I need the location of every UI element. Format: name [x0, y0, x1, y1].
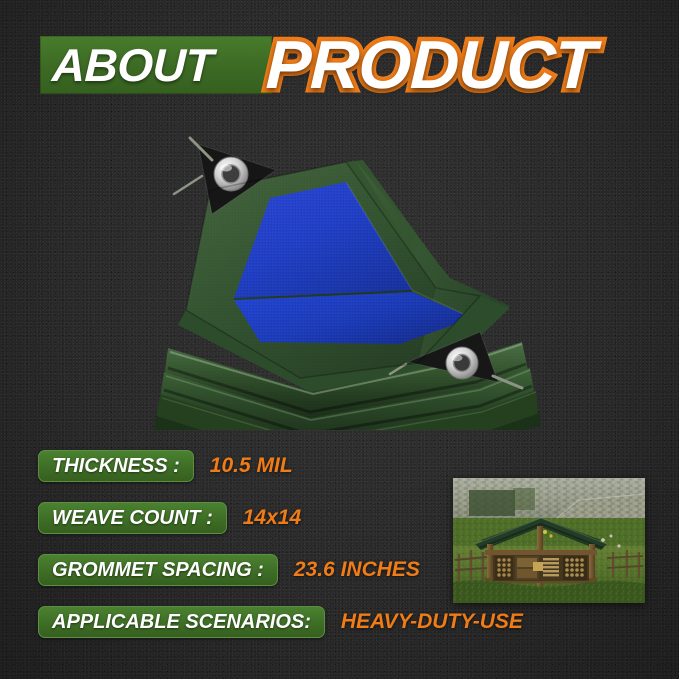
folded-tarp-photo	[150, 120, 550, 430]
spec-label-applicable-scenarios: APPLICABLE SCENARIOS:	[52, 611, 311, 634]
spec-value-grommet-spacing: 23.6 INCHES	[294, 558, 420, 582]
insect-hotel-garden-photo	[453, 478, 645, 603]
infographic-page: ABOUT PRODUCT	[0, 0, 679, 679]
spec-value-applicable-scenarios: HEAVY-DUTY-USE	[341, 610, 523, 634]
spec-label-pill-thickness: THICKNESS :	[38, 450, 194, 482]
page-title-about: ABOUT	[51, 37, 269, 93]
spec-label-grommet-spacing: GROMMET SPACING :	[52, 559, 264, 582]
spec-row-applicable-scenarios: APPLICABLE SCENARIOS: HEAVY-DUTY-USE	[38, 596, 638, 648]
spec-value-weave-count: 14x14	[243, 506, 301, 530]
spec-value-thickness: 10.5 MIL	[210, 454, 293, 478]
spec-label-pill-grommet-spacing: GROMMET SPACING :	[38, 554, 278, 586]
spec-label-weave-count: WEAVE COUNT :	[52, 507, 213, 530]
header-banner: ABOUT PRODUCT	[0, 0, 679, 128]
page-title-product: PRODUCT	[265, 24, 597, 106]
spec-label-thickness: THICKNESS :	[52, 455, 180, 478]
spec-label-pill-weave-count: WEAVE COUNT :	[38, 502, 227, 534]
spec-label-pill-applicable-scenarios: APPLICABLE SCENARIOS:	[38, 606, 325, 638]
